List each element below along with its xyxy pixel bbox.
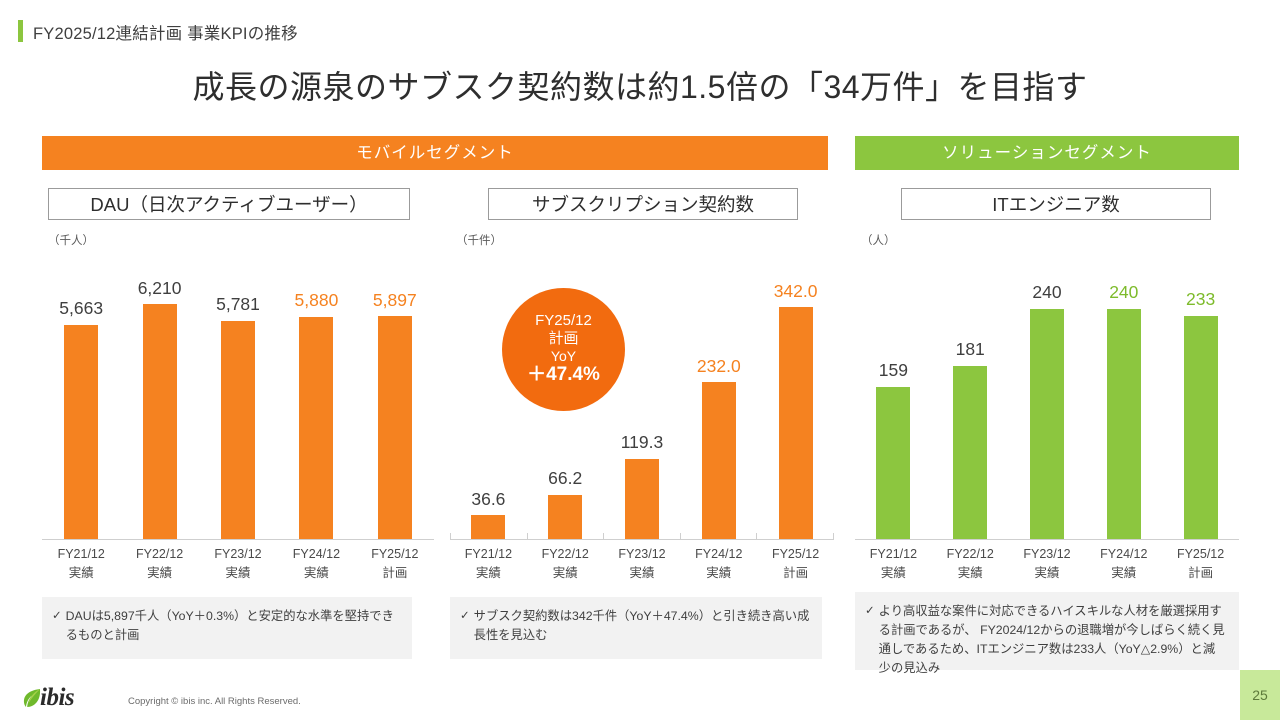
category-label: FY23/12実績 [1009, 545, 1086, 584]
chart-unit-subscription: （千件） [456, 232, 834, 246]
chart-panel-subscription: サブスクリプション契約数 （千件） FY25/12 計画 YoY ＋47.4% … [450, 188, 834, 584]
bar [1107, 309, 1141, 540]
bar [378, 316, 412, 540]
plot-area-it-engineers: 159181240240233 [855, 250, 1239, 540]
header-accent-bar [18, 20, 23, 42]
category-label: FY21/12実績 [855, 545, 932, 584]
slide-header: FY2025/12連結計画 事業KPIの推移 [0, 0, 1280, 54]
bar-value-label: 240 [1032, 284, 1061, 302]
plot-area-subscription: FY25/12 計画 YoY ＋47.4% 36.666.2119.3232.0… [450, 250, 834, 540]
category-axis-subscription: FY21/12実績FY22/12実績FY23/12実績FY24/12実績FY25… [450, 545, 834, 584]
chart-panel-it-engineers: ITエンジニア数 （人） 159181240240233 FY21/12実績FY… [855, 188, 1239, 584]
bar-value-label: 119.3 [621, 434, 664, 452]
category-label: FY24/12実績 [1085, 545, 1162, 584]
category-label: FY22/12実績 [120, 545, 198, 584]
bar [1030, 309, 1064, 540]
bar-value-label: 6,210 [138, 280, 182, 298]
page-number: 25 [1240, 670, 1280, 720]
segment-banner-solution: ソリューションセグメント [855, 136, 1239, 170]
segment-banner-mobile: モバイルセグメント [42, 136, 828, 170]
bar-group: 119.3 [604, 250, 681, 540]
bar [1184, 316, 1218, 540]
bar-value-label: 342.0 [774, 283, 818, 301]
chart-unit-dau: （千人） [48, 232, 434, 246]
copyright-text: Copyright © ibis inc. All Rights Reserve… [128, 696, 301, 707]
bar-value-label: 5,880 [295, 292, 339, 310]
bar-group: 5,880 [277, 250, 355, 540]
bar-group: 181 [932, 250, 1009, 540]
bar [702, 382, 736, 540]
note-box-it-engineers: ✓ より高収益な案件に対応できるハイスキルな人材を厳選採用する計画であるが、 F… [855, 592, 1239, 670]
category-label: FY21/12実績 [450, 545, 527, 584]
bar-value-label: 5,897 [373, 292, 417, 310]
note-text-subscription: サブスク契約数は342千件（YoY＋47.4%）と引き続き高い成長性を見込む [474, 607, 810, 645]
category-label: FY25/12計画 [757, 545, 834, 584]
yoy-badge-line2: 計画 [548, 330, 578, 348]
axis-line-it-engineers [855, 539, 1239, 540]
bar-group: 36.6 [450, 250, 527, 540]
bar-value-label: 233 [1186, 291, 1215, 309]
check-icon: ✓ [52, 607, 62, 645]
chart-panel-dau: DAU（日次アクティブユーザー） （千人） 5,6636,2105,7815,8… [42, 188, 434, 584]
bar-value-label: 5,663 [59, 300, 103, 318]
company-logo: ibis [22, 684, 74, 712]
bar-value-label: 232.0 [697, 358, 741, 376]
bar [143, 304, 177, 540]
note-box-subscription: ✓ サブスク契約数は342千件（YoY＋47.4%）と引き続き高い成長性を見込む [450, 597, 822, 659]
chart-title-dau: DAU（日次アクティブユーザー） [48, 188, 410, 220]
bar [779, 307, 813, 540]
company-logo-text: ibis [40, 684, 74, 712]
bar-group: 6,210 [120, 250, 198, 540]
note-box-dau: ✓ DAUは5,897千人（YoY＋0.3%）と安定的な水準を堅持できるものと計… [42, 597, 412, 659]
yoy-badge-line4: ＋47.4% [527, 364, 600, 386]
axis-line-subscription [450, 539, 834, 540]
bars-row-subscription: 36.666.2119.3232.0342.0 [450, 250, 834, 540]
bar [64, 325, 98, 540]
category-label: FY22/12実績 [527, 545, 604, 584]
bar-group: 159 [855, 250, 932, 540]
bars-row-it-engineers: 159181240240233 [855, 250, 1239, 540]
check-icon: ✓ [460, 607, 470, 645]
header-eyebrow-title: FY2025/12連結計画 事業KPIの推移 [33, 20, 298, 44]
chart-unit-it-engineers: （人） [861, 232, 1239, 246]
bars-row-dau: 5,6636,2105,7815,8805,897 [42, 250, 434, 540]
leaf-icon [22, 687, 42, 709]
bar [953, 366, 987, 540]
bar-value-label: 181 [956, 341, 985, 359]
bar-value-label: 36.6 [471, 491, 505, 509]
yoy-badge-line3: YoY [551, 348, 576, 365]
bar-group: 342.0 [757, 250, 834, 540]
category-label: FY23/12実績 [199, 545, 277, 584]
category-label: FY24/12実績 [680, 545, 757, 584]
category-label: FY21/12実績 [42, 545, 120, 584]
bar-group: 5,781 [199, 250, 277, 540]
category-label: FY25/12計画 [356, 545, 434, 584]
bar-group: 233 [1162, 250, 1239, 540]
category-axis-dau: FY21/12実績FY22/12実績FY23/12実績FY24/12実績FY25… [42, 545, 434, 584]
bar-group: 5,663 [42, 250, 120, 540]
page-title: 成長の源泉のサブスク契約数は約1.5倍の「34万件」を目指す [0, 62, 1280, 108]
bar [625, 459, 659, 540]
yoy-callout-badge: FY25/12 計画 YoY ＋47.4% [502, 288, 625, 411]
bar-group: 232.0 [680, 250, 757, 540]
bar-group: 240 [1085, 250, 1162, 540]
axis-line-dau [42, 539, 434, 540]
bar-value-label: 240 [1109, 284, 1138, 302]
bar-value-label: 159 [879, 362, 908, 380]
category-label: FY22/12実績 [932, 545, 1009, 584]
note-text-it-engineers: より高収益な案件に対応できるハイスキルな人材を厳選採用する計画であるが、 FY2… [879, 602, 1227, 678]
check-icon: ✓ [865, 602, 875, 678]
bar-group: 240 [1009, 250, 1086, 540]
category-axis-it-engineers: FY21/12実績FY22/12実績FY23/12実績FY24/12実績FY25… [855, 545, 1239, 584]
bar [876, 387, 910, 540]
category-label: FY23/12実績 [604, 545, 681, 584]
chart-title-subscription: サブスクリプション契約数 [488, 188, 798, 220]
category-label: FY24/12実績 [277, 545, 355, 584]
bar [221, 321, 255, 541]
bar-group: 5,897 [356, 250, 434, 540]
bar [299, 317, 333, 540]
note-text-dau: DAUは5,897千人（YoY＋0.3%）と安定的な水準を堅持できるものと計画 [66, 607, 400, 645]
bar-value-label: 66.2 [548, 470, 582, 488]
yoy-badge-line1: FY25/12 [535, 312, 592, 330]
bar-value-label: 5,781 [216, 296, 260, 314]
plot-area-dau: 5,6636,2105,7815,8805,897 [42, 250, 434, 540]
category-label: FY25/12計画 [1162, 545, 1239, 584]
chart-title-it-engineers: ITエンジニア数 [901, 188, 1211, 220]
